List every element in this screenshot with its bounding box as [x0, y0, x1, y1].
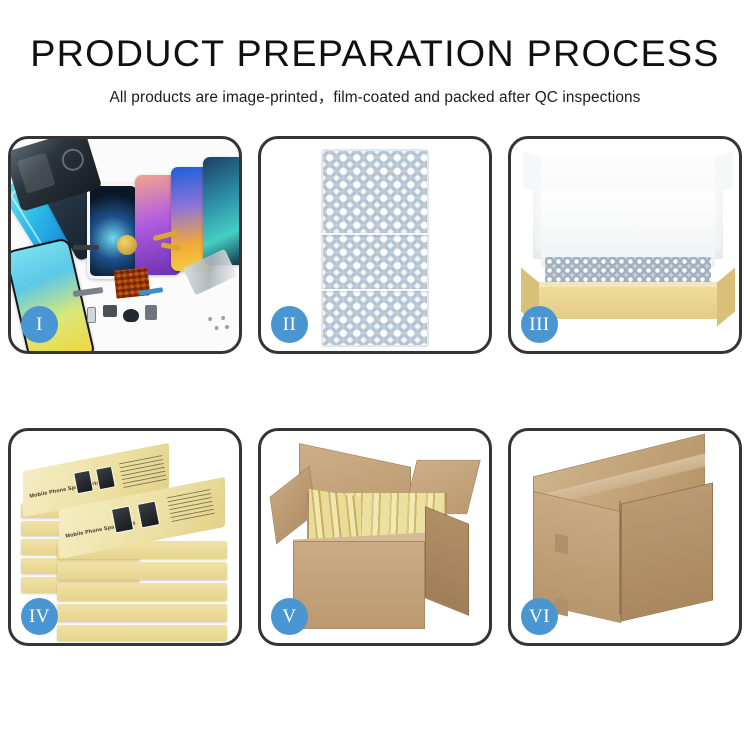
bubble-pattern-layer-2 — [323, 151, 427, 345]
process-step-panel-3: III — [508, 136, 742, 354]
page-subtitle: All products are image-printed，film-coat… — [0, 85, 750, 107]
small-part-image-3 — [145, 305, 157, 320]
connector-bar-image — [73, 245, 99, 250]
speaker-module-image — [117, 235, 137, 255]
process-step-grid: I II III — [8, 136, 742, 646]
carton-tab-upper — [555, 533, 568, 554]
small-part-image-1 — [103, 305, 117, 317]
small-part-image-4 — [87, 307, 96, 323]
carton-side-panel — [425, 506, 469, 616]
step-badge-3: III — [521, 306, 558, 343]
white-bezel-phone-image — [87, 183, 139, 279]
step-badge-6: VI — [521, 598, 558, 635]
process-step-panel-2: II — [258, 136, 492, 354]
step-badge-2: II — [271, 306, 308, 343]
process-step-panel-5: V — [258, 428, 492, 646]
carton-front-panel — [293, 541, 425, 629]
wrap-seam-2 — [321, 289, 429, 291]
box-front-panel-image — [533, 287, 723, 319]
page-title: PRODUCT PREPARATION PROCESS — [0, 34, 750, 74]
box-front-3 — [57, 583, 227, 601]
small-part-image-2 — [123, 309, 139, 322]
box-front-4 — [57, 604, 227, 622]
box-interior-image — [541, 191, 715, 267]
header: PRODUCT PREPARATION PROCESS All products… — [0, 0, 750, 107]
process-step-panel-4: Mobile Phone Spare Parts Mobile Phone Sp… — [8, 428, 242, 646]
teal-screen-phone-image — [203, 157, 239, 265]
process-step-panel-1: I — [8, 136, 242, 354]
step-badge-1: I — [21, 306, 58, 343]
screws-image — [205, 313, 231, 333]
box-front-5 — [57, 625, 227, 641]
process-step-panel-6: VI — [508, 428, 742, 646]
step-badge-4: IV — [21, 598, 58, 635]
bubble-wrap-sleeve-image — [321, 149, 429, 347]
carton-corner-seam — [619, 501, 621, 615]
box-front-2 — [57, 562, 227, 580]
wrap-seam-1 — [321, 233, 429, 235]
product-preparation-infographic: PRODUCT PREPARATION PROCESS All products… — [0, 0, 750, 750]
step-badge-5: V — [271, 598, 308, 635]
sealed-carton-side — [621, 482, 713, 621]
